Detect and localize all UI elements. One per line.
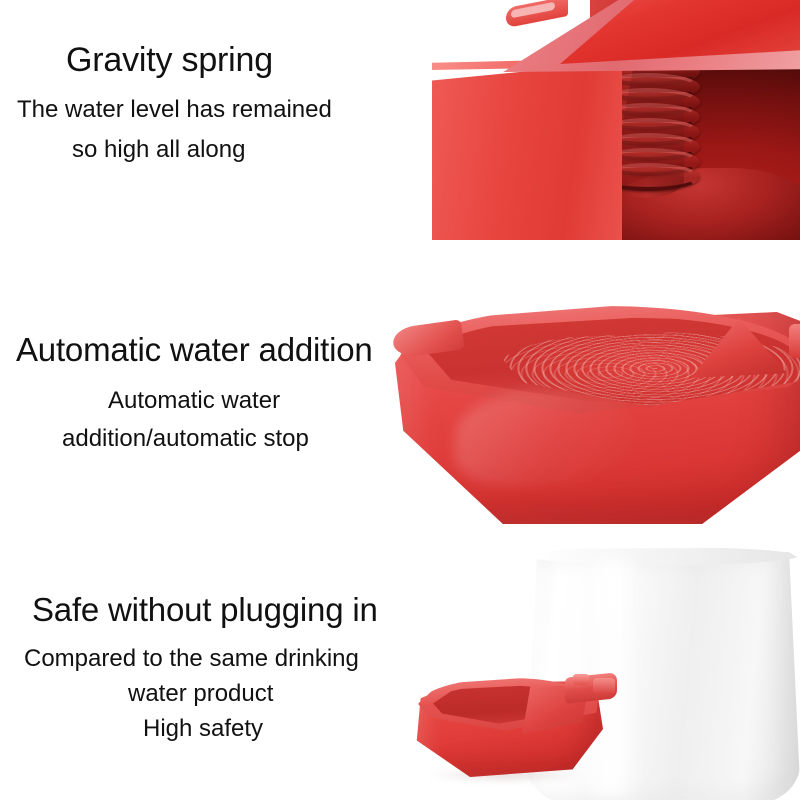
red-water-bowl-photo [385,306,800,534]
feature-section-safe-without-plugging-in: Safe without plugging in Compared to the… [0,535,800,800]
valve-cap [573,674,589,685]
safe-without-plugging-subline-3: High safety [143,712,430,745]
automatic-water-subline-1: Automatic water [108,384,430,418]
photo-bottom-crop [410,240,800,270]
front-red-wall [432,62,622,247]
valve-nipple [593,678,615,694]
automatic-water-heading: Automatic water addition [16,330,430,370]
safe-without-plugging-subline-2: water product [128,677,430,710]
gravity-spring-subline-1: The water level has remained [17,93,400,127]
automatic-water-text-block: Automatic water addition Automatic water… [0,330,430,456]
gravity-spring-cutaway-photo [410,0,800,245]
automatic-water-subline-2: addition/automatic stop [62,422,430,456]
infographic-page: Gravity spring The water level has remai… [0,0,800,800]
safe-without-plugging-subline-1: Compared to the same drinking [24,642,430,675]
bucket-rim [528,547,798,565]
gravity-spring-text-block: Gravity spring The water level has remai… [0,40,400,167]
safe-without-plugging-text-block: Safe without plugging in Compared to the… [0,590,430,745]
feature-section-gravity-spring: Gravity spring The water level has remai… [0,0,800,270]
gravity-spring-heading: Gravity spring [66,40,400,80]
feature-section-automatic-water-addition: Automatic water addition Automatic water… [0,270,800,535]
valve-nub [789,324,800,358]
cup-and-bucket-photo [400,535,800,800]
gravity-spring-subline-2: so high all along [72,133,400,167]
safe-without-plugging-heading: Safe without plugging in [32,590,430,630]
